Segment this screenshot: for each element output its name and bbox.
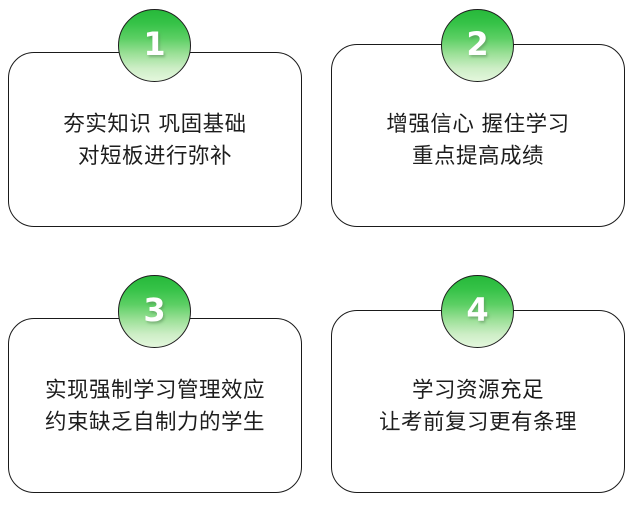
info-card-1-text: 夯实知识 巩固基础 对短板进行弥补	[9, 109, 301, 173]
badge-3: 3	[118, 275, 191, 348]
info-card-4-text: 学习资源充足 让考前复习更有条理	[332, 375, 624, 439]
badge-2: 2	[441, 9, 514, 82]
badge-4-number: 4	[466, 294, 488, 326]
badge-1: 1	[118, 9, 191, 82]
badge-2-number: 2	[466, 28, 488, 60]
info-card-4-line-1: 学习资源充足	[332, 375, 624, 407]
infographic-four-point-grid: 夯实知识 巩固基础 对短板进行弥补 1 增强信心 握住学习 重点提高成绩 2 实…	[0, 0, 633, 505]
info-card-1-line-2: 对短板进行弥补	[9, 141, 301, 173]
badge-1-number: 1	[143, 28, 165, 60]
info-card-4-line-2: 让考前复习更有条理	[332, 407, 624, 439]
badge-3-number: 3	[143, 294, 165, 326]
badge-4: 4	[441, 275, 514, 348]
info-card-2-line-2: 重点提高成绩	[332, 141, 624, 173]
info-card-3-line-1: 实现强制学习管理效应	[9, 375, 301, 407]
info-card-2-line-1: 增强信心 握住学习	[332, 109, 624, 141]
info-card-3-line-2: 约束缺乏自制力的学生	[9, 407, 301, 439]
info-card-3-text: 实现强制学习管理效应 约束缺乏自制力的学生	[9, 375, 301, 439]
info-card-2-text: 增强信心 握住学习 重点提高成绩	[332, 109, 624, 173]
info-card-1-line-1: 夯实知识 巩固基础	[9, 109, 301, 141]
